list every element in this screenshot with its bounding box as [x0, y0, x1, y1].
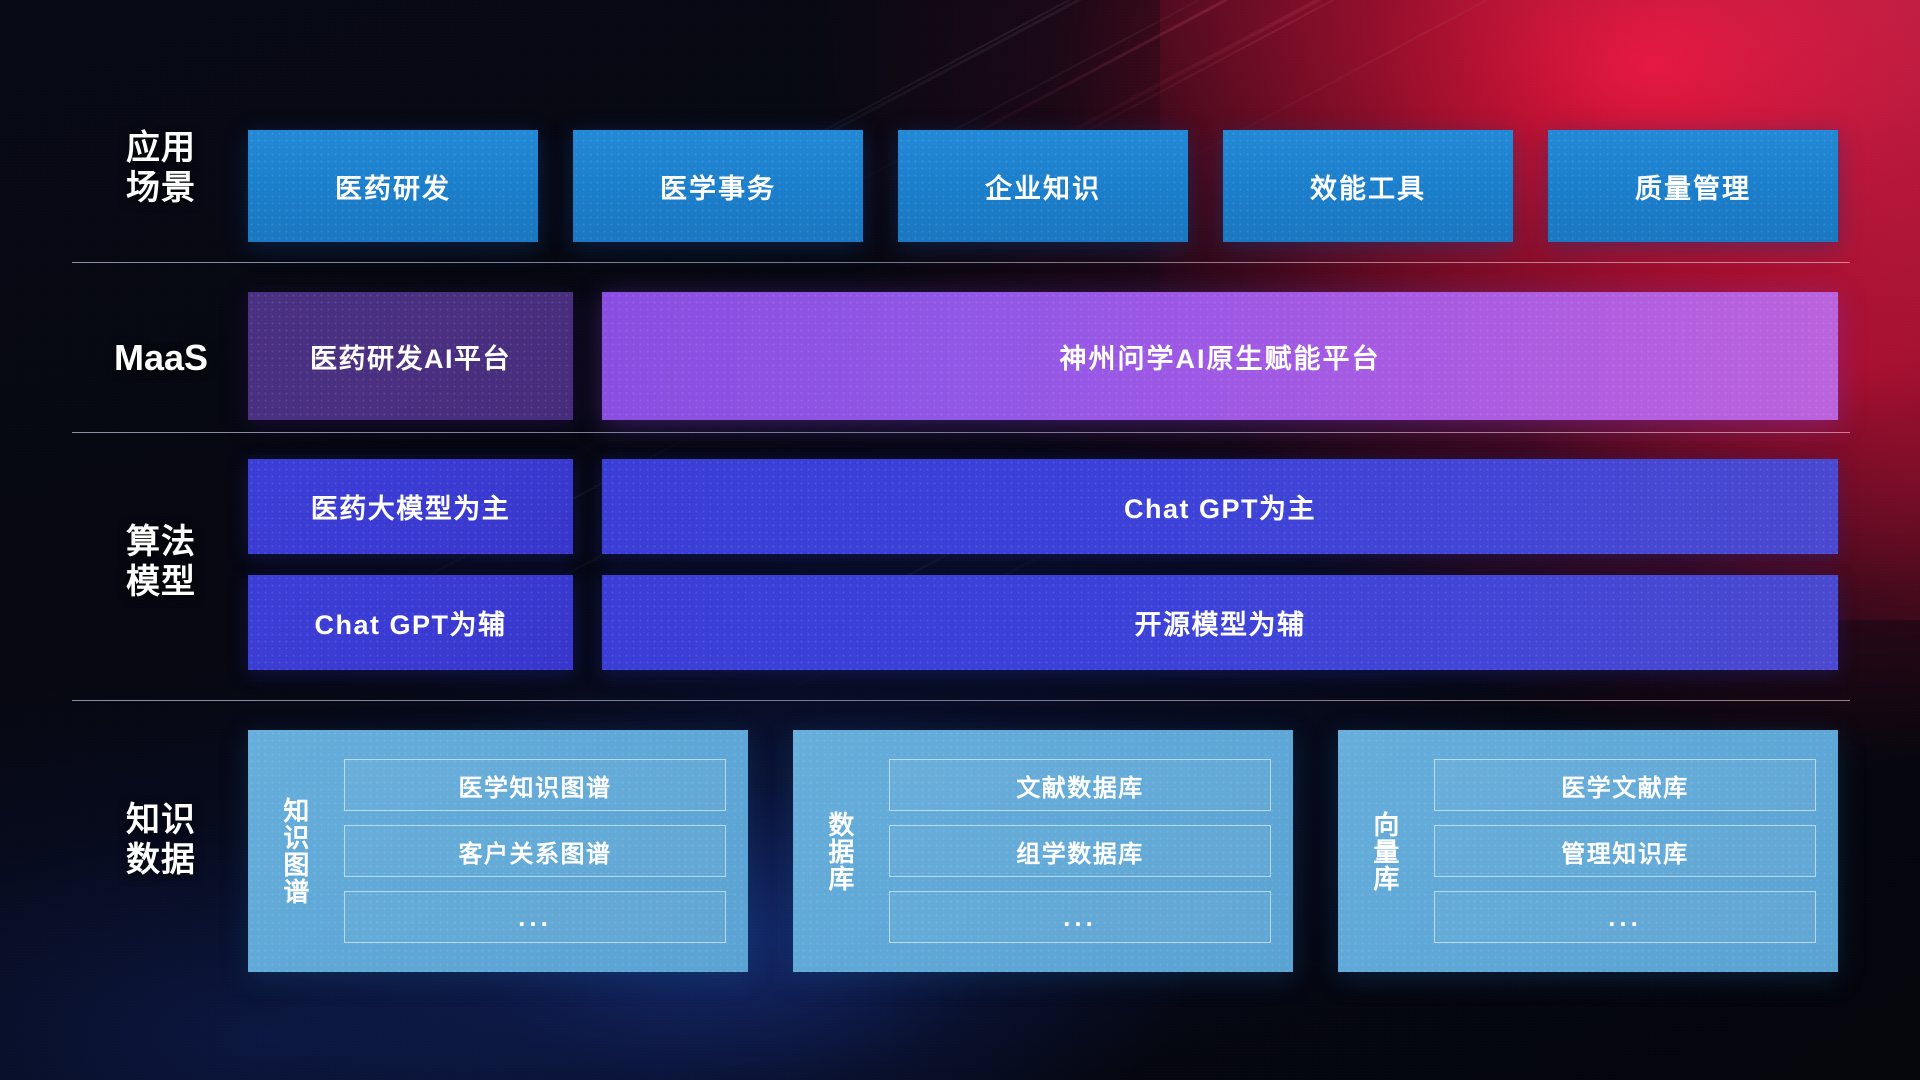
scenario-box-1[interactable]: 医药研发	[248, 130, 538, 242]
scenario-box-1-label: 医药研发	[335, 167, 451, 206]
knowledge-panel-database-title: 数据库	[793, 730, 885, 972]
knowledge-item-database-1[interactable]: 文献数据库	[889, 759, 1271, 811]
tier-label-application-scenarios: 应用 场景	[72, 128, 250, 208]
knowledge-item-database-3-label: ...	[1063, 902, 1097, 933]
knowledge-panel-graph-title: 知识图谱	[248, 730, 340, 972]
knowledge-panel-database-items: 文献数据库 组学数据库 ...	[885, 730, 1293, 972]
knowledge-item-vector-3-label: ...	[1608, 902, 1642, 933]
scenario-box-2[interactable]: 医学事务	[573, 130, 863, 242]
algo-box-row1-left[interactable]: 医药大模型为主	[248, 459, 573, 554]
knowledge-item-vector-2-label: 管理知识库	[1561, 834, 1689, 869]
scenario-box-5-label: 质量管理	[1635, 167, 1751, 206]
divider-2	[72, 432, 1850, 433]
knowledge-item-database-3[interactable]: ...	[889, 891, 1271, 943]
knowledge-panel-vector[interactable]: 向量库 医学文献库 管理知识库 ...	[1338, 730, 1838, 972]
tier-label-knowledge-data: 知识 数据	[72, 800, 250, 880]
knowledge-panel-graph[interactable]: 知识图谱 医学知识图谱 客户关系图谱 ...	[248, 730, 748, 972]
maas-box-shenzhou-platform-label: 神州问学AI原生赋能平台	[1060, 337, 1381, 376]
knowledge-item-vector-1-label: 医学文献库	[1561, 768, 1689, 803]
algo-box-row1-right[interactable]: Chat GPT为主	[602, 459, 1838, 554]
algo-box-row2-left[interactable]: Chat GPT为辅	[248, 575, 573, 670]
scenario-box-3-label: 企业知识	[985, 167, 1101, 206]
knowledge-item-database-1-label: 文献数据库	[1016, 768, 1144, 803]
knowledge-item-vector-1[interactable]: 医学文献库	[1434, 759, 1816, 811]
knowledge-item-graph-2-label: 客户关系图谱	[459, 834, 612, 869]
knowledge-panel-vector-items: 医学文献库 管理知识库 ...	[1430, 730, 1838, 972]
knowledge-panel-database[interactable]: 数据库 文献数据库 组学数据库 ...	[793, 730, 1293, 972]
maas-box-medical-ai-platform[interactable]: 医药研发AI平台	[248, 292, 573, 420]
tier-label-algorithm-models: 算法 模型	[72, 522, 250, 602]
divider-1	[72, 262, 1850, 263]
algo-box-row2-right-label: 开源模型为辅	[1135, 603, 1306, 642]
knowledge-item-graph-3[interactable]: ...	[344, 891, 726, 943]
algo-box-row1-right-label: Chat GPT为主	[1124, 487, 1316, 526]
knowledge-item-database-2[interactable]: 组学数据库	[889, 825, 1271, 877]
algo-box-row1-left-label: 医药大模型为主	[311, 487, 511, 526]
divider-3	[72, 700, 1850, 701]
diagram-canvas: 应用 场景 医药研发 医学事务 企业知识 效能工具 质量管理 MaaS 医药研发…	[0, 0, 1920, 1080]
maas-box-shenzhou-platform[interactable]: 神州问学AI原生赋能平台	[602, 292, 1838, 420]
scenario-box-5[interactable]: 质量管理	[1548, 130, 1838, 242]
algo-box-row2-left-label: Chat GPT为辅	[314, 603, 506, 642]
knowledge-item-graph-1[interactable]: 医学知识图谱	[344, 759, 726, 811]
algo-box-row2-right[interactable]: 开源模型为辅	[602, 575, 1838, 670]
knowledge-panel-vector-title: 向量库	[1338, 730, 1430, 972]
knowledge-item-database-2-label: 组学数据库	[1016, 834, 1144, 869]
maas-box-medical-ai-platform-label: 医药研发AI平台	[310, 337, 511, 376]
knowledge-item-graph-3-label: ...	[518, 902, 552, 933]
knowledge-item-vector-3[interactable]: ...	[1434, 891, 1816, 943]
scenario-box-4[interactable]: 效能工具	[1223, 130, 1513, 242]
knowledge-item-graph-2[interactable]: 客户关系图谱	[344, 825, 726, 877]
scenario-box-4-label: 效能工具	[1310, 167, 1426, 206]
knowledge-item-graph-1-label: 医学知识图谱	[459, 768, 612, 803]
knowledge-item-vector-2[interactable]: 管理知识库	[1434, 825, 1816, 877]
scenario-box-2-label: 医学事务	[660, 167, 776, 206]
tier-label-maas: MaaS	[72, 337, 250, 379]
knowledge-panel-graph-items: 医学知识图谱 客户关系图谱 ...	[340, 730, 748, 972]
scenario-box-3[interactable]: 企业知识	[898, 130, 1188, 242]
